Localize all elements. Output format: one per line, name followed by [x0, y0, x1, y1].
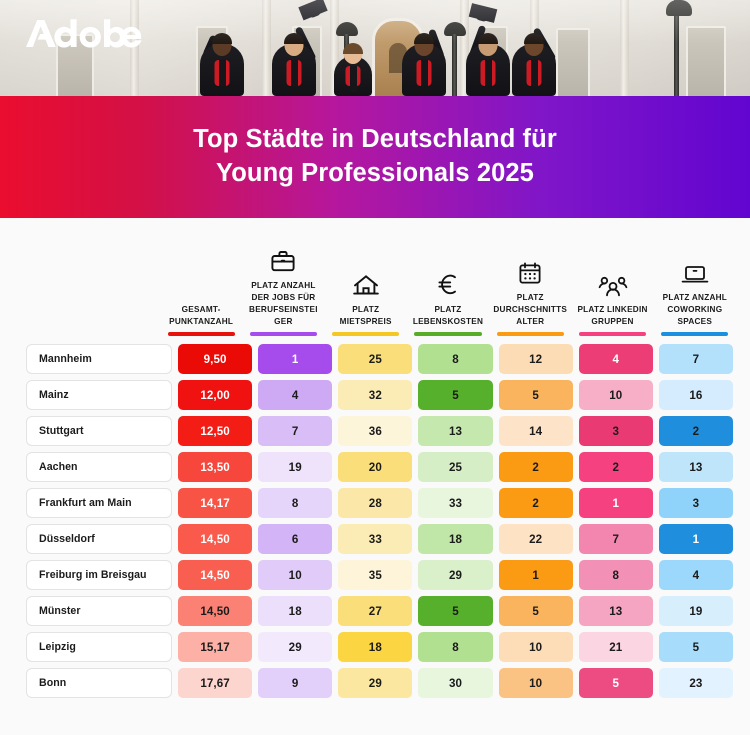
city-cell[interactable]: Düsseldorf	[26, 524, 172, 554]
value-cell: 3	[659, 488, 733, 518]
value-cell: 15,17	[178, 632, 252, 662]
graduate-figure	[508, 38, 560, 96]
value-cell: 20	[338, 452, 412, 482]
laptop-icon	[681, 255, 709, 285]
value-cell: 13	[579, 596, 653, 626]
value-cell: 10	[258, 560, 332, 590]
value-text: 25	[369, 353, 382, 366]
value-text: 4	[612, 353, 619, 366]
graduate-figure	[462, 38, 514, 96]
value-cell: 9,50	[178, 344, 252, 374]
value-cell: 8	[258, 488, 332, 518]
title-band: Top Städte in Deutschland für Young Prof…	[0, 96, 750, 218]
value-cell: 18	[258, 596, 332, 626]
value-cell: 18	[338, 632, 412, 662]
value-text: 35	[369, 569, 382, 582]
value-text: 13	[689, 461, 702, 474]
accent-bar-cell	[492, 332, 568, 336]
value-text: 12,50	[200, 425, 230, 438]
value-text: 30	[449, 677, 462, 690]
value-cell: 5	[579, 668, 653, 698]
value-text: 29	[369, 677, 382, 690]
value-text: 5	[693, 641, 700, 654]
table-row: Freiburg im Breisgau14,50103529184	[14, 557, 736, 593]
value-cell: 21	[579, 632, 653, 662]
value-text: 33	[449, 497, 462, 510]
value-cell: 25	[338, 344, 412, 374]
ranking-table: GESAMT-PUNKTANZAHL PLATZ ANZAHL DER JOBS…	[0, 218, 750, 735]
value-cell: 12,50	[178, 416, 252, 446]
value-text: 7	[693, 353, 700, 366]
city-cell[interactable]: Freiburg im Breisgau	[26, 560, 172, 590]
column-header-gesamtpunktanzahl: GESAMT-PUNKTANZAHL	[163, 228, 239, 328]
value-cell: 10	[579, 380, 653, 410]
value-cell: 2	[499, 488, 573, 518]
value-cell: 13	[418, 416, 492, 446]
accent-bar-cell	[574, 332, 650, 336]
value-cell: 13,50	[178, 452, 252, 482]
value-cell: 10	[499, 668, 573, 698]
column-header-label: PLATZ ANZAHL COWORKING SPACES	[657, 292, 733, 328]
value-text: 20	[369, 461, 382, 474]
accent-bar	[332, 332, 399, 336]
value-cell: 33	[338, 524, 412, 554]
city-name: Aachen	[39, 461, 78, 473]
value-cell: 28	[338, 488, 412, 518]
value-text: 2	[612, 461, 619, 474]
value-text: 18	[449, 533, 462, 546]
city-name: Stuttgart	[39, 425, 84, 437]
value-text: 5	[452, 605, 459, 618]
city-name: Frankfurt am Main	[39, 497, 132, 509]
value-cell: 13	[659, 452, 733, 482]
value-text: 28	[369, 497, 382, 510]
value-text: 7	[612, 533, 619, 546]
value-text: 29	[449, 569, 462, 582]
column-header-label: PLATZ LEBENSKOSTEN	[410, 304, 486, 328]
value-text: 1	[292, 353, 299, 366]
value-text: 14,50	[200, 605, 230, 618]
column-header-lebenskosten: PLATZ LEBENSKOSTEN	[410, 228, 486, 328]
value-cell: 4	[659, 560, 733, 590]
city-cell[interactable]: Stuttgart	[26, 416, 172, 446]
value-cell: 1	[499, 560, 573, 590]
value-text: 1	[532, 569, 539, 582]
value-text: 5	[452, 389, 459, 402]
column-accent-bars	[14, 328, 736, 339]
table-column-headers: GESAMT-PUNKTANZAHL PLATZ ANZAHL DER JOBS…	[14, 218, 736, 328]
value-text: 10	[609, 389, 622, 402]
value-cell: 33	[418, 488, 492, 518]
value-text: 14,50	[200, 569, 230, 582]
value-cell: 7	[659, 344, 733, 374]
value-text: 13	[449, 425, 462, 438]
accent-bar-cell	[328, 332, 404, 336]
value-text: 6	[292, 533, 299, 546]
value-cell: 9	[258, 668, 332, 698]
graduate-figure	[398, 38, 450, 96]
value-text: 14,17	[200, 497, 230, 510]
briefcase-icon	[270, 243, 296, 273]
table-row: Münster14,501827551319	[14, 593, 736, 629]
value-text: 16	[689, 389, 702, 402]
value-text: 9	[292, 677, 299, 690]
accent-bar-cell	[245, 332, 321, 336]
value-text: 18	[369, 641, 382, 654]
value-cell: 17,67	[178, 668, 252, 698]
value-text: 3	[693, 497, 700, 510]
page-title: Top Städte in Deutschland für Young Prof…	[173, 123, 577, 190]
city-cell[interactable]: Aachen	[26, 452, 172, 482]
value-text: 23	[689, 677, 702, 690]
city-name: Mannheim	[39, 353, 92, 365]
table-row: Stuttgart12,50736131432	[14, 413, 736, 449]
column-header-label: PLATZ DURCHSCHNITTSALTER	[492, 292, 568, 328]
value-text: 21	[609, 641, 622, 654]
value-text: 10	[529, 641, 542, 654]
value-text: 14	[529, 425, 542, 438]
city-cell[interactable]: Bonn	[26, 668, 172, 698]
value-cell: 5	[418, 380, 492, 410]
column-header-label: PLATZ MIETSPREIS	[328, 304, 404, 328]
table-rows: Mannheim9,5012581247Mainz12,00432551016S…	[14, 339, 736, 701]
graduate-figure	[196, 38, 248, 96]
city-name: Mainz	[39, 389, 69, 401]
value-text: 3	[612, 425, 619, 438]
value-text: 9,50	[204, 353, 227, 366]
value-cell: 7	[258, 416, 332, 446]
value-cell: 2	[659, 416, 733, 446]
accent-bar	[661, 332, 728, 336]
calendar-icon	[518, 255, 542, 285]
value-cell: 5	[659, 632, 733, 662]
city-name: Freiburg im Breisgau	[39, 569, 147, 581]
value-text: 7	[292, 425, 299, 438]
value-cell: 29	[258, 632, 332, 662]
value-text: 19	[289, 461, 302, 474]
city-cell[interactable]: Frankfurt am Main	[26, 488, 172, 518]
value-cell: 2	[579, 452, 653, 482]
group-icon	[598, 267, 628, 297]
value-cell: 27	[338, 596, 412, 626]
accent-bar-cell	[657, 332, 733, 336]
value-text: 29	[289, 641, 302, 654]
value-text: 15,17	[200, 641, 230, 654]
value-cell: 14,50	[178, 524, 252, 554]
city-cell[interactable]: Mannheim	[26, 344, 172, 374]
table-row: Aachen13,501920252213	[14, 449, 736, 485]
value-text: 13	[609, 605, 622, 618]
table-row: Bonn17,679293010523	[14, 665, 736, 701]
value-text: 10	[529, 677, 542, 690]
value-text: 1	[693, 533, 700, 546]
column-header-mietspreis: PLATZ MIETSPREIS	[328, 228, 404, 328]
value-text: 4	[693, 569, 700, 582]
value-cell: 2	[499, 452, 573, 482]
column-header-durchschnittsalter: PLATZ DURCHSCHNITTSALTER	[492, 228, 568, 328]
accent-bar	[168, 332, 235, 336]
value-text: 8	[612, 569, 619, 582]
value-text: 25	[449, 461, 462, 474]
value-text: 17,67	[200, 677, 230, 690]
value-cell: 5	[418, 596, 492, 626]
accent-bar	[579, 332, 646, 336]
value-text: 5	[532, 389, 539, 402]
value-cell: 14,50	[178, 560, 252, 590]
value-text: 1	[612, 497, 619, 510]
value-cell: 5	[499, 380, 573, 410]
value-cell: 29	[338, 668, 412, 698]
value-cell: 6	[258, 524, 332, 554]
value-cell: 16	[659, 380, 733, 410]
euro-icon	[436, 267, 460, 297]
value-text: 8	[452, 353, 459, 366]
value-text: 14,50	[200, 533, 230, 546]
value-cell: 5	[499, 596, 573, 626]
graduate-figure	[330, 50, 376, 96]
value-cell: 35	[338, 560, 412, 590]
value-text: 10	[289, 569, 302, 582]
value-cell: 7	[579, 524, 653, 554]
value-cell: 29	[418, 560, 492, 590]
city-cell[interactable]: Leipzig	[26, 632, 172, 662]
accent-bar-cell	[410, 332, 486, 336]
value-text: 5	[532, 605, 539, 618]
value-cell: 18	[418, 524, 492, 554]
accent-bar-cell	[163, 332, 239, 336]
value-cell: 4	[579, 344, 653, 374]
value-cell: 14	[499, 416, 573, 446]
city-name: Düsseldorf	[39, 533, 95, 545]
value-text: 12	[529, 353, 542, 366]
hero-photo-band	[0, 0, 750, 96]
value-text: 13,50	[200, 461, 230, 474]
column-header-label: GESAMT-PUNKTANZAHL	[163, 304, 239, 328]
value-text: 22	[529, 533, 542, 546]
column-header-coworking: PLATZ ANZAHL COWORKING SPACES	[657, 228, 733, 328]
value-cell: 3	[579, 416, 653, 446]
value-cell: 19	[258, 452, 332, 482]
value-text: 12,00	[200, 389, 230, 402]
value-text: 5	[612, 677, 619, 690]
value-text: 2	[693, 425, 700, 438]
value-cell: 14,17	[178, 488, 252, 518]
column-header-jobs: PLATZ ANZAHL DER JOBS FÜR BERUFSEINSTEIG…	[245, 228, 321, 328]
value-text: 2	[532, 461, 539, 474]
value-cell: 23	[659, 668, 733, 698]
value-cell: 1	[579, 488, 653, 518]
value-text: 32	[369, 389, 382, 402]
infographic-root: Top Städte in Deutschland für Young Prof…	[0, 0, 750, 735]
graduate-figure	[268, 38, 320, 96]
accent-bar	[414, 332, 481, 336]
city-name: Bonn	[39, 677, 66, 689]
value-cell: 4	[258, 380, 332, 410]
table-row: Leipzig15,172918810215	[14, 629, 736, 665]
value-cell: 1	[258, 344, 332, 374]
value-cell: 8	[418, 344, 492, 374]
value-cell: 32	[338, 380, 412, 410]
value-cell: 8	[579, 560, 653, 590]
city-cell[interactable]: Mainz	[26, 380, 172, 410]
column-header-linkedin-gruppen: PLATZ LINKEDIN GRUPPEN	[574, 228, 650, 328]
value-cell: 14,50	[178, 596, 252, 626]
column-header-label: PLATZ ANZAHL DER JOBS FÜR BERUFSEINSTEIG…	[245, 280, 321, 328]
value-text: 36	[369, 425, 382, 438]
value-cell: 10	[499, 632, 573, 662]
table-row: Mannheim9,5012581247	[14, 341, 736, 377]
value-cell: 30	[418, 668, 492, 698]
city-name: Leipzig	[39, 641, 76, 653]
value-text: 19	[689, 605, 702, 618]
value-text: 8	[292, 497, 299, 510]
accent-bar	[250, 332, 317, 336]
value-text: 8	[452, 641, 459, 654]
value-text: 4	[292, 389, 299, 402]
city-cell[interactable]: Münster	[26, 596, 172, 626]
value-cell: 22	[499, 524, 573, 554]
adobe-logo[interactable]	[24, 16, 142, 50]
value-cell: 12,00	[178, 380, 252, 410]
table-row: Düsseldorf14,50633182271	[14, 521, 736, 557]
table-row: Frankfurt am Main14,1782833213	[14, 485, 736, 521]
value-text: 33	[369, 533, 382, 546]
house-icon	[352, 267, 380, 297]
value-cell: 1	[659, 524, 733, 554]
value-cell: 19	[659, 596, 733, 626]
value-cell: 8	[418, 632, 492, 662]
city-name: Münster	[39, 605, 81, 617]
value-cell: 25	[418, 452, 492, 482]
value-text: 18	[289, 605, 302, 618]
value-cell: 36	[338, 416, 412, 446]
value-text: 27	[369, 605, 382, 618]
table-row: Mainz12,00432551016	[14, 377, 736, 413]
value-cell: 12	[499, 344, 573, 374]
column-header-label: PLATZ LINKEDIN GRUPPEN	[574, 304, 650, 328]
value-text: 2	[532, 497, 539, 510]
accent-bar	[497, 332, 564, 336]
